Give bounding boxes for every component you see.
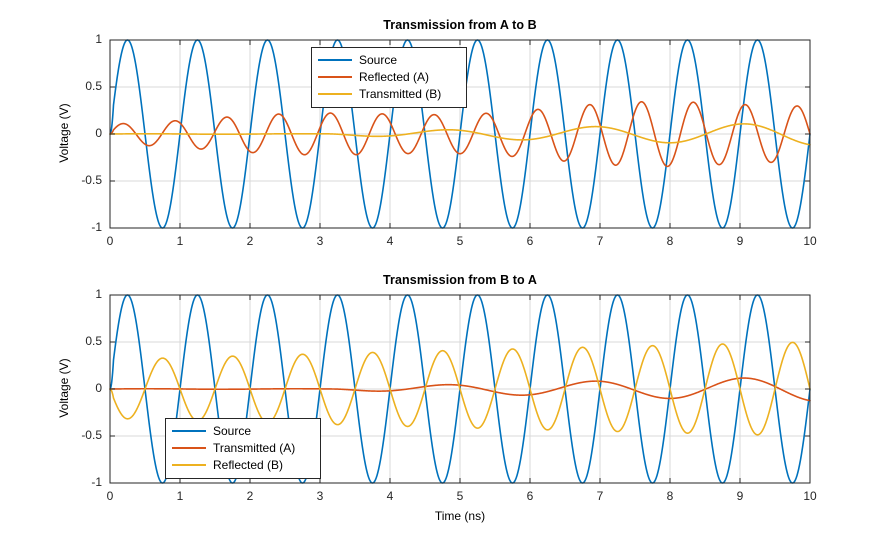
legend[interactable]: SourceTransmitted (A)Reflected (B)	[165, 418, 321, 479]
legend-color-swatch	[318, 59, 352, 61]
legend-entry[interactable]: Reflected (A)	[318, 68, 460, 85]
x-tick-label: 4	[370, 234, 410, 248]
x-tick-label: 7	[580, 234, 620, 248]
x-tick-label: 0	[90, 489, 130, 503]
y-tick-label: 0	[62, 126, 102, 140]
x-axis-label: Time (ns)	[110, 509, 810, 523]
x-tick-label: 2	[230, 489, 270, 503]
x-tick-label: 3	[300, 489, 340, 503]
plot-title: Transmission from B to A	[110, 273, 810, 287]
legend-label: Source	[213, 425, 251, 437]
legend[interactable]: SourceReflected (A)Transmitted (B)	[311, 47, 467, 108]
x-tick-label: 6	[510, 489, 550, 503]
legend-entry[interactable]: Source	[318, 51, 460, 68]
x-tick-label: 0	[90, 234, 130, 248]
legend-color-swatch	[318, 76, 352, 78]
y-tick-label: -0.5	[62, 428, 102, 442]
x-tick-label: 4	[370, 489, 410, 503]
legend-label: Transmitted (B)	[359, 88, 441, 100]
legend-label: Source	[359, 54, 397, 66]
plot-title: Transmission from A to B	[110, 18, 810, 32]
legend-color-swatch	[172, 430, 206, 432]
x-tick-label: 8	[650, 234, 690, 248]
x-tick-label: 5	[440, 234, 480, 248]
legend-entry[interactable]: Transmitted (B)	[318, 85, 460, 102]
y-tick-label: 0.5	[62, 79, 102, 93]
y-tick-label: 1	[62, 287, 102, 301]
x-tick-label: 10	[790, 234, 830, 248]
legend-label: Reflected (B)	[213, 459, 283, 471]
x-tick-label: 9	[720, 489, 760, 503]
x-tick-label: 6	[510, 234, 550, 248]
y-tick-label: -1	[62, 220, 102, 234]
x-tick-label: 1	[160, 489, 200, 503]
y-tick-label: 0	[62, 381, 102, 395]
x-tick-label: 8	[650, 489, 690, 503]
legend-color-swatch	[318, 93, 352, 95]
x-tick-label: 7	[580, 489, 620, 503]
y-tick-label: 1	[62, 32, 102, 46]
y-tick-label: -1	[62, 475, 102, 489]
x-tick-label: 5	[440, 489, 480, 503]
legend-entry[interactable]: Transmitted (A)	[172, 439, 314, 456]
legend-color-swatch	[172, 447, 206, 449]
legend-label: Transmitted (A)	[213, 442, 295, 454]
y-tick-label: 0.5	[62, 334, 102, 348]
x-tick-label: 10	[790, 489, 830, 503]
x-tick-label: 2	[230, 234, 270, 248]
y-tick-label: -0.5	[62, 173, 102, 187]
legend-entry[interactable]: Source	[172, 422, 314, 439]
legend-label: Reflected (A)	[359, 71, 429, 83]
x-tick-label: 9	[720, 234, 760, 248]
legend-entry[interactable]: Reflected (B)	[172, 456, 314, 473]
x-tick-label: 3	[300, 234, 340, 248]
matlab-figure: Transmission from A to BVoltage (V)-1-0.…	[0, 0, 895, 540]
legend-color-swatch	[172, 464, 206, 466]
x-tick-label: 1	[160, 234, 200, 248]
